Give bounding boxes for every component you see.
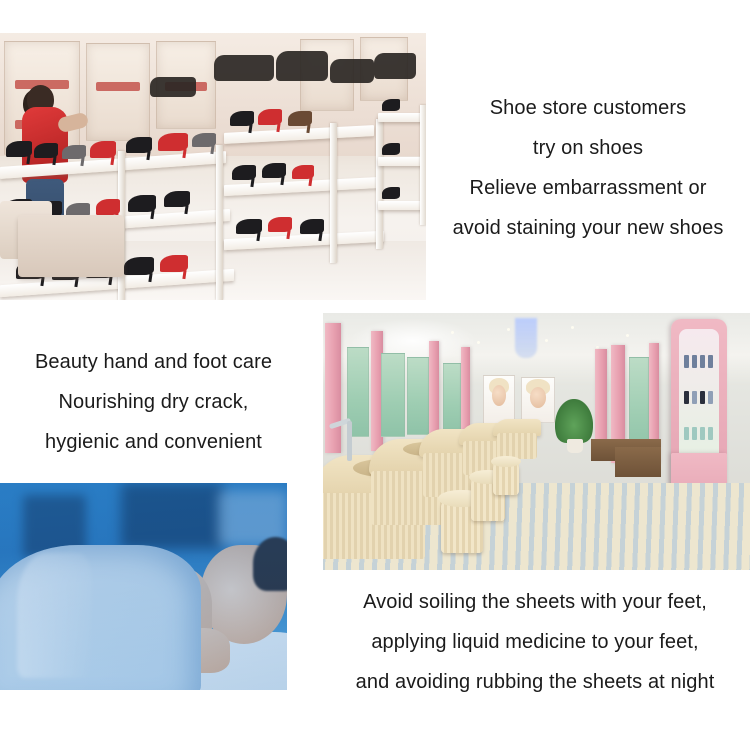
product-bottle — [692, 391, 697, 404]
caption-line: avoid staining your new shoes — [426, 208, 750, 248]
display-shelf — [378, 157, 426, 166]
salon-poster — [483, 375, 515, 425]
product-bottle — [708, 355, 713, 368]
green-wall-panel — [443, 363, 461, 435]
caption-line: Shoe store customers — [426, 88, 750, 128]
caption-line: Beauty hand and foot care — [0, 342, 307, 382]
blanket-fold — [17, 553, 92, 677]
product-bottle — [692, 427, 697, 440]
shoe-cluster — [150, 77, 196, 97]
store-ottoman — [18, 215, 124, 277]
shelf-post — [376, 119, 383, 249]
shoe-cluster — [330, 59, 374, 83]
shoe-item — [236, 219, 262, 234]
display-shelf — [378, 113, 426, 122]
shoe-cluster — [374, 53, 416, 79]
pink-column — [325, 323, 341, 453]
ceiling-light — [626, 334, 629, 337]
caption-line: Avoid soiling the sheets with your feet, — [320, 582, 750, 622]
poster-face — [492, 385, 506, 406]
shoe-item — [192, 133, 216, 147]
shoe-item — [90, 141, 116, 158]
caption-line: try on shoes — [426, 128, 750, 168]
shoe-item — [258, 109, 282, 125]
shoe-item — [6, 141, 32, 157]
shoe-item — [34, 143, 58, 158]
product-bottle — [684, 355, 689, 368]
shoe-store-caption: Shoe store customers try on shoes Reliev… — [426, 88, 750, 248]
display-shelf — [378, 201, 426, 210]
shoe-item — [292, 165, 314, 179]
shoe-item — [158, 133, 188, 151]
green-wall-panel — [407, 357, 429, 435]
product-bottle — [700, 391, 705, 404]
shoe-item — [268, 217, 292, 232]
product-bottle — [684, 427, 689, 440]
shoe-item — [230, 111, 254, 126]
sleep-care-caption: Avoid soiling the sheets with your feet,… — [320, 582, 750, 702]
sleeper-hair — [253, 537, 287, 591]
background-object — [121, 483, 224, 549]
sleeping-person-photo — [0, 483, 287, 690]
shoe-item — [124, 257, 154, 275]
caption-line: applying liquid medicine to your feet, — [320, 622, 750, 662]
product-bottle — [700, 427, 705, 440]
green-wall-panel — [381, 353, 405, 437]
product-bottle — [708, 391, 713, 404]
shelf-post — [330, 123, 337, 263]
caption-line: hygienic and convenient — [0, 422, 307, 462]
chair-faucet — [347, 421, 352, 461]
shoe-store-photo — [0, 33, 426, 300]
shoe-item — [382, 143, 400, 155]
shelf-post — [216, 145, 223, 300]
shoe-item — [126, 137, 152, 153]
shoe-item — [128, 195, 156, 212]
beauty-care-caption: Beauty hand and foot care Nourishing dry… — [0, 342, 307, 462]
shoe-item — [160, 255, 188, 272]
shoe-item — [300, 219, 324, 234]
collage-page: Shoe store customers try on shoes Reliev… — [0, 0, 750, 750]
shoe-item — [382, 187, 400, 199]
product-bottle — [684, 391, 689, 404]
salon-counter — [615, 447, 661, 477]
ceiling-light — [545, 339, 548, 342]
poster-face — [530, 387, 547, 408]
wall-panel — [86, 43, 150, 141]
product-bottle — [700, 355, 705, 368]
shoe-item — [288, 111, 312, 126]
salon-stool — [493, 463, 519, 495]
pedicure-salon-photo — [323, 313, 750, 570]
product-bottle — [692, 355, 697, 368]
ceiling-light — [571, 326, 574, 329]
caption-line: Nourishing dry crack, — [0, 382, 307, 422]
caption-line: and avoiding rubbing the sheets at night — [320, 662, 750, 702]
potted-plant — [555, 399, 593, 443]
salon-poster — [521, 377, 555, 423]
plant-pot — [567, 439, 583, 453]
shoe-item — [96, 199, 120, 215]
chandelier — [515, 318, 537, 358]
product-bottle — [708, 427, 713, 440]
shoe-item — [262, 163, 286, 178]
shoe-cluster — [214, 55, 274, 81]
caption-line: Relieve embarrassment or — [426, 168, 750, 208]
shoe-item — [62, 145, 86, 159]
shoe-item — [164, 191, 190, 207]
shoe-item — [232, 165, 256, 180]
shoe-item — [382, 99, 400, 111]
shoe-cluster — [276, 51, 328, 81]
